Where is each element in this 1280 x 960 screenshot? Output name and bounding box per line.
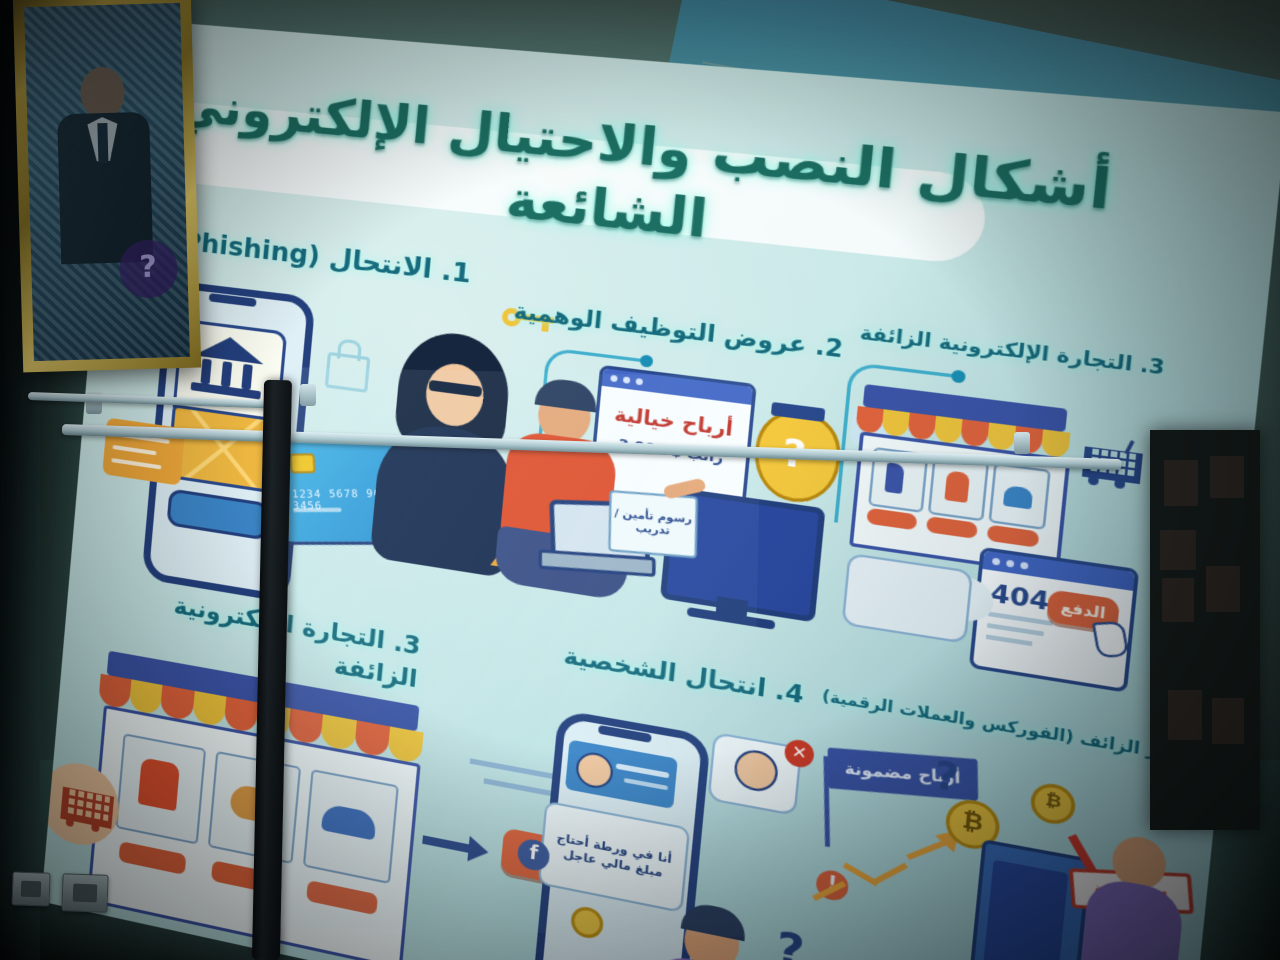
- classroom-photo: أشكال النصب والاحتيال الإلكتروني الشائعة…: [0, 0, 1280, 960]
- speed-line-2: [484, 778, 551, 796]
- rising-chart-icon: [800, 777, 975, 953]
- board-poster: [1164, 460, 1198, 506]
- portrait-head: [80, 66, 125, 119]
- shopping-cart-icon-bottom: [43, 764, 122, 849]
- tshirt-glyph: [138, 757, 180, 811]
- section-label-phishing: 1. الانتحال (Phishing): [170, 225, 473, 289]
- board-poster-5: [1162, 578, 1194, 622]
- projected-slide: أشكال النصب والاحتيال الإلكتروني الشائعة…: [41, 18, 1280, 960]
- bank-building-icon: [191, 333, 266, 400]
- question-mark-icon-investment: ?: [923, 751, 970, 804]
- error-code: 404: [989, 580, 1051, 618]
- window-titlebar: [602, 368, 753, 405]
- portrait-background-pattern: [24, 3, 190, 361]
- padlock-shackle: [337, 338, 362, 361]
- speed-line: [470, 758, 560, 780]
- board-poster-4: [1206, 566, 1240, 612]
- fees-note: رسوم تأمين / تدريب: [608, 490, 698, 559]
- product-shoe-icon: [884, 462, 904, 494]
- board-poster-2: [1210, 456, 1244, 498]
- portrait-subject: [52, 66, 154, 279]
- gold-coin-icon: ₿: [1029, 781, 1077, 828]
- product-shirt-icon: [944, 470, 970, 503]
- projection-overlap-blob: [119, 239, 179, 299]
- board-poster-3: [1160, 530, 1196, 570]
- rail-clip-mid: [300, 384, 316, 406]
- framed-portrait: ?: [13, 0, 201, 372]
- board-poster-7: [1212, 698, 1244, 744]
- board-poster-6: [1168, 690, 1202, 740]
- projected-slide-area: أشكال النصب والاحتيال الإلكتروني الشائعة…: [41, 18, 1280, 960]
- portrait-tie: [97, 123, 108, 163]
- wall-socket-right[interactable]: [61, 873, 108, 913]
- arrow-right-icon: [422, 835, 473, 853]
- portrait-shirt: [87, 117, 118, 162]
- question-mark-icon-identity: ?: [763, 921, 816, 960]
- wall-switch-left[interactable]: [11, 871, 50, 906]
- card-chip-icon: [289, 453, 316, 473]
- price-list-card: [842, 553, 974, 644]
- projected-question-mark: ?: [139, 250, 157, 285]
- bulletin-board: [1150, 430, 1260, 830]
- portrait-suit: [57, 112, 153, 265]
- section-label-identity: 4. انتحال الشخصية: [562, 642, 805, 710]
- portrait-image: ?: [24, 3, 190, 361]
- rail-clip-right: [1014, 432, 1030, 454]
- arrow-right-head: [467, 836, 489, 865]
